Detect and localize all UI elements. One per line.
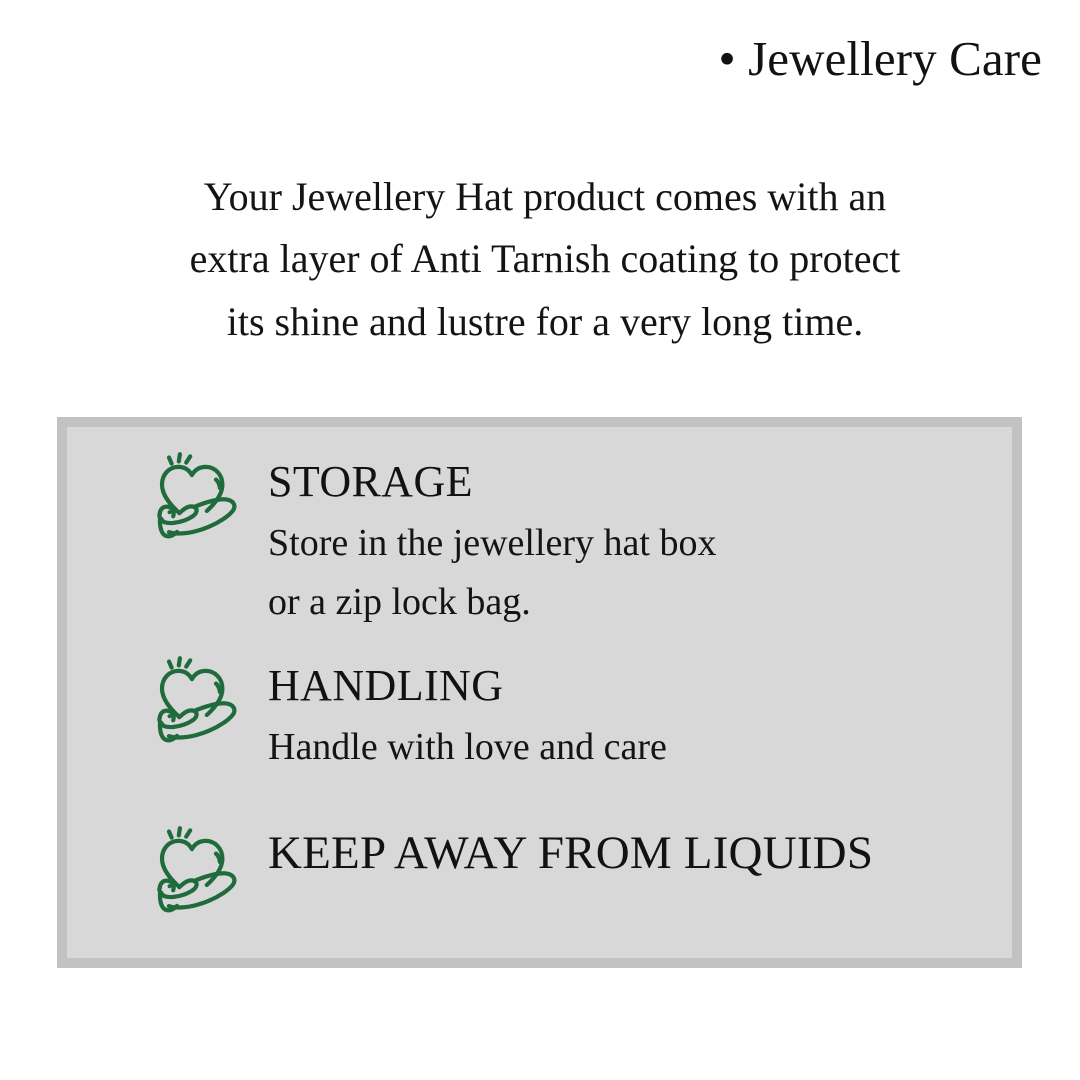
care-description: Store in the jewellery hat box or a zip … [268, 514, 717, 632]
list-item: STORAGE Store in the jewellery hat box o… [150, 451, 717, 632]
intro-line-2: extra layer of Anti Tarnish coating to p… [78, 228, 1012, 290]
intro-line-3: its shine and lustre for a very long tim… [78, 291, 1012, 353]
care-heading: KEEP AWAY FROM LIQUIDS [268, 805, 873, 879]
care-heading: STORAGE [268, 457, 473, 506]
list-item-text: STORAGE Store in the jewellery hat box o… [268, 451, 717, 632]
intro-paragraph: Your Jewellery Hat product comes with an… [78, 166, 1012, 353]
care-heading: HANDLING [268, 629, 503, 710]
care-description-line: or a zip lock bag. [268, 573, 717, 632]
care-description: Handle with love and care [268, 718, 667, 777]
list-item: KEEP AWAY FROM LIQUIDS [150, 825, 873, 925]
hand-holding-heart-icon [150, 825, 254, 925]
list-item: HANDLING Handle with love and care [150, 655, 667, 777]
hand-holding-heart-icon [150, 451, 254, 551]
care-instructions-panel: STORAGE Store in the jewellery hat box o… [57, 417, 1022, 968]
list-item-text: KEEP AWAY FROM LIQUIDS [268, 825, 873, 878]
page-title: • Jewellery Care [0, 32, 1042, 87]
intro-line-1: Your Jewellery Hat product comes with an [78, 166, 1012, 228]
care-description-line: Handle with love and care [268, 718, 667, 777]
care-instructions-list: STORAGE Store in the jewellery hat box o… [67, 427, 1012, 958]
care-description-line: Store in the jewellery hat box [268, 514, 717, 573]
hand-holding-heart-icon [150, 655, 254, 755]
list-item-text: HANDLING Handle with love and care [268, 655, 667, 777]
